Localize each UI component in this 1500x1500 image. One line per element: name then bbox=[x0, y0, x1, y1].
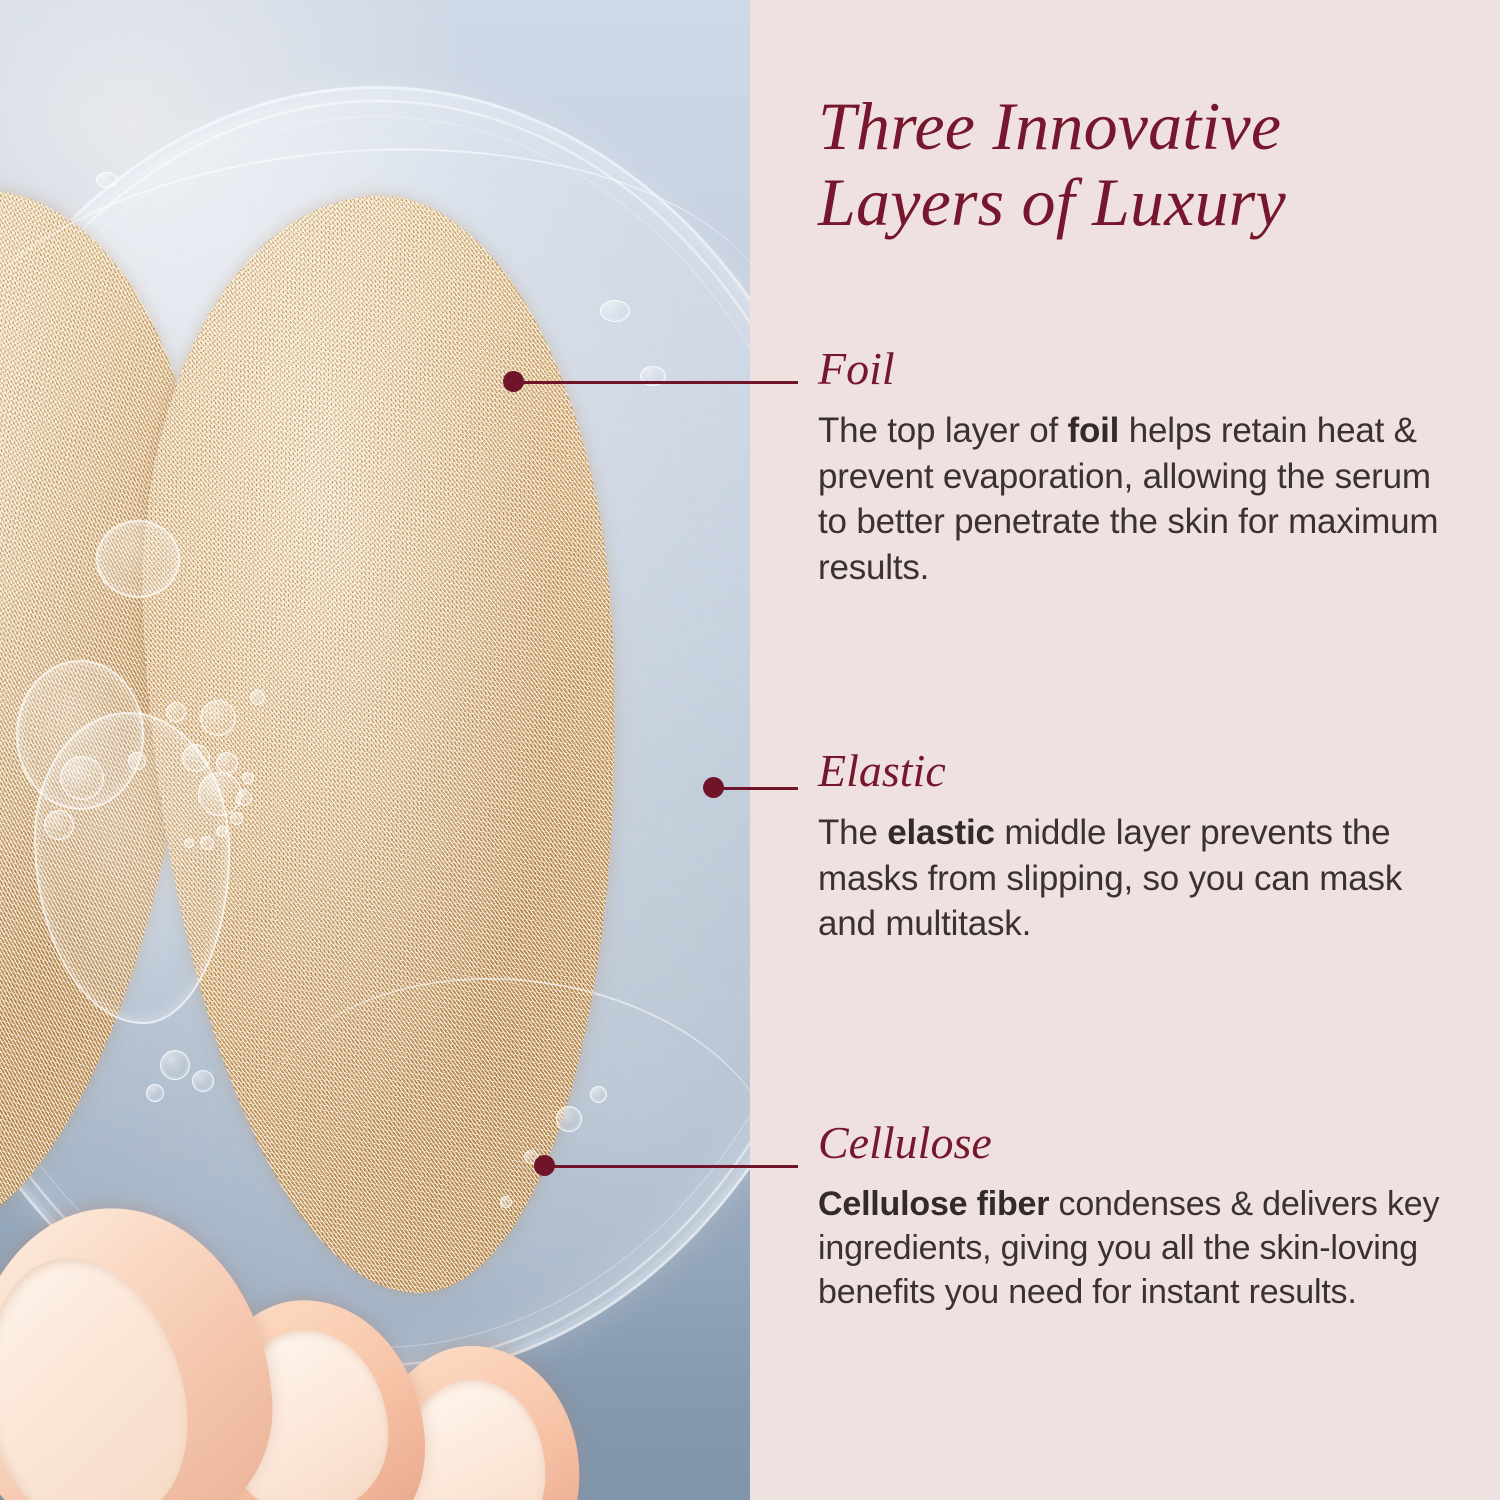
section-title-cellulose: Cellulose bbox=[818, 1120, 1464, 1166]
serum-bubble bbox=[60, 756, 104, 800]
serum-bubble bbox=[184, 838, 194, 848]
serum-bubble bbox=[216, 752, 238, 774]
serum-bubble bbox=[182, 744, 210, 772]
thumbnail bbox=[0, 1238, 209, 1500]
serum-bubble bbox=[96, 172, 118, 188]
serum-bubble bbox=[200, 836, 214, 850]
serum-bubble bbox=[160, 1050, 190, 1080]
section-body-cellulose: Cellulose fiber condenses & delivers key… bbox=[818, 1182, 1464, 1315]
section-foil: Foil The top layer of foil helps retain … bbox=[818, 346, 1464, 590]
serum-bubble bbox=[200, 700, 236, 736]
serum-bubble bbox=[198, 772, 242, 816]
section-elastic: Elastic The elastic middle layer prevent… bbox=[818, 748, 1464, 947]
serum-bubble bbox=[242, 772, 254, 784]
headline-line-2: Layers of Luxury bbox=[818, 164, 1286, 240]
serum-bubble bbox=[166, 702, 186, 722]
info-panel: Three Innovative Layers of Luxury Foil T… bbox=[750, 0, 1500, 1500]
section-body-elastic: The elastic middle layer prevents the ma… bbox=[818, 810, 1464, 947]
serum-bubble bbox=[128, 752, 146, 770]
section-title-elastic: Elastic bbox=[818, 748, 1464, 794]
section-body-foil: The top layer of foil helps retain heat … bbox=[818, 408, 1464, 590]
page-title: Three Innovative Layers of Luxury bbox=[818, 88, 1458, 240]
section-cellulose: Cellulose Cellulose fiber condenses & de… bbox=[818, 1120, 1464, 1315]
infographic-page: Three Innovative Layers of Luxury Foil T… bbox=[0, 0, 1500, 1500]
serum-bubble bbox=[146, 1084, 164, 1102]
headline-line-1: Three Innovative bbox=[818, 88, 1281, 164]
serum-bubble bbox=[216, 826, 227, 837]
product-photo bbox=[0, 0, 750, 1500]
serum-bubble bbox=[236, 790, 252, 806]
serum-bubble bbox=[44, 810, 74, 840]
section-title-foil: Foil bbox=[818, 346, 1464, 392]
serum-bubble bbox=[230, 812, 243, 825]
serum-bubble bbox=[250, 690, 265, 705]
serum-bubble bbox=[192, 1070, 214, 1092]
